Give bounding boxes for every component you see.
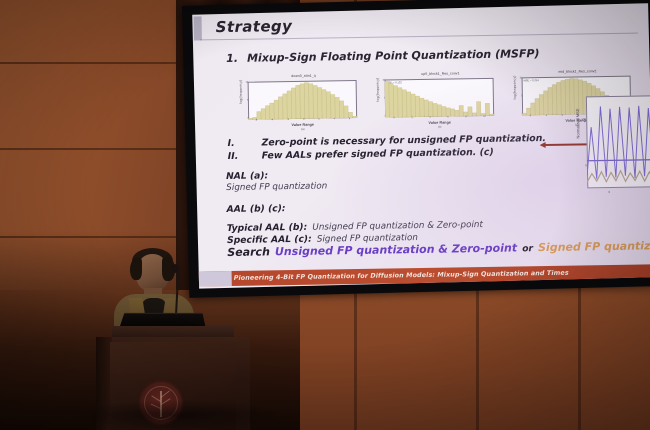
heading-text: Mixup-Sign Floating Point Quantization (… bbox=[247, 47, 540, 65]
histogram-b: up5_block1_Res_conv1 log(frequency) MSE … bbox=[375, 70, 494, 130]
observation-1-numeral: I. bbox=[227, 137, 261, 149]
aal-label: AAL (b) (c): bbox=[227, 203, 286, 215]
histogram-a-title: down3_attn1_q bbox=[250, 73, 356, 79]
conclusion-connector: or bbox=[522, 243, 533, 254]
nal-label: NAL (a): bbox=[226, 170, 268, 182]
presentation-slide: Strategy 1.Mixup-Sign Floating Point Qua… bbox=[192, 3, 650, 288]
conclusion-option-a: Unsigned FP quantization & Zero-point bbox=[275, 241, 517, 258]
conclusion-option-b: Signed FP quantization bbox=[538, 239, 650, 254]
normalized-mse-chart: Normalized MSE 1000 0100 bbox=[575, 93, 650, 204]
observation-2-numeral: II. bbox=[228, 150, 262, 162]
slide-heading: 1.Mixup-Sign Floating Point Quantization… bbox=[226, 47, 539, 65]
histogram-c-title: mid_block1_Res_conv2 bbox=[524, 69, 630, 75]
heading-number: 1. bbox=[226, 52, 238, 65]
podium-floor-shadow bbox=[70, 400, 280, 430]
observation-1: I.Zero-point is necessary for unsigned F… bbox=[227, 133, 546, 149]
conclusion-lead: Search bbox=[227, 245, 270, 259]
observation-1-text: Zero-point is necessary for unsigned FP … bbox=[261, 133, 546, 148]
histogram-a-bars bbox=[248, 80, 358, 120]
nal-detail: Signed FP quantization bbox=[226, 181, 327, 193]
histogram-b-xsublabel: (b) bbox=[385, 125, 494, 130]
slide-title: Strategy bbox=[216, 17, 293, 36]
histogram-b-title: up5_block1_Res_conv1 bbox=[387, 71, 493, 77]
observation-2-text: Few AALs prefer signed FP quantization. … bbox=[262, 147, 494, 162]
observation-2: II.Few AALs prefer signed FP quantizatio… bbox=[228, 147, 494, 162]
histogram-a-xsublabel: (a) bbox=[248, 127, 357, 132]
slide-footer-text: Pioneering 4-Bit FP Quantization for Dif… bbox=[234, 268, 569, 281]
histogram-b-bars bbox=[385, 78, 495, 118]
histogram-a: down3_attn1_q log(frequency) 1051 -6-4-2… bbox=[238, 72, 357, 132]
conference-room-photo: Strategy 1.Mixup-Sign Floating Point Qua… bbox=[0, 0, 650, 430]
mse-chart-lines bbox=[586, 95, 650, 188]
mse-chart-xticks: 0100 bbox=[587, 189, 650, 195]
title-accent-bar bbox=[194, 16, 202, 40]
histogram-row: down3_attn1_q log(frequency) 1051 -6-4-2… bbox=[238, 68, 631, 132]
projection-screen: Strategy 1.Mixup-Sign Floating Point Qua… bbox=[182, 0, 650, 298]
presenter-hair-left bbox=[130, 258, 142, 280]
